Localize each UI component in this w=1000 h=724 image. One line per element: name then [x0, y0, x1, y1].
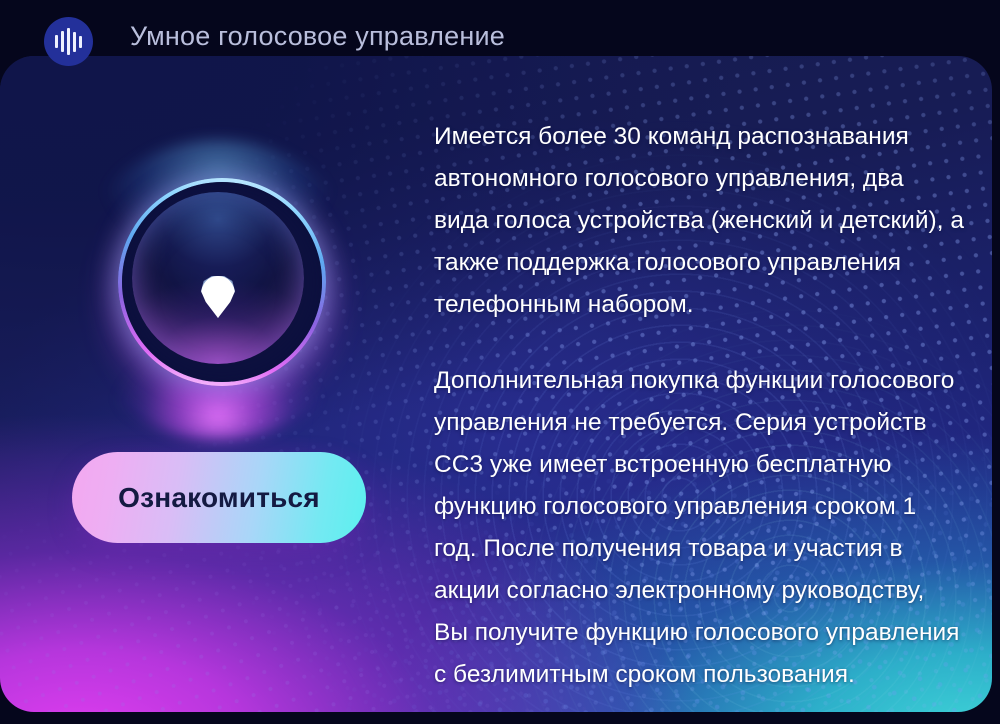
waveform-bar: [55, 35, 58, 48]
learn-more-button[interactable]: Ознакомиться: [72, 452, 366, 543]
orb-inner-sphere: [132, 192, 304, 364]
location-pin-icon: [201, 276, 235, 318]
description-paragraph-1: Имеется более 30 команд распознавания ав…: [434, 116, 964, 326]
glowing-voice-orb: [118, 178, 318, 378]
description-paragraph-2: Дополнительная покупка функции голосовог…: [434, 360, 964, 696]
waveform-bar: [67, 28, 70, 55]
voice-waveform-icon: [44, 17, 93, 66]
waveform-bar: [61, 31, 64, 52]
header: Умное голосовое управление: [0, 0, 1000, 80]
waveform-bar: [73, 32, 76, 52]
waveform-bar: [79, 36, 82, 48]
learn-more-button-label: Ознакомиться: [118, 482, 320, 514]
description-block: Имеется более 30 команд распознавания ав…: [434, 116, 964, 696]
page-title: Умное голосовое управление: [130, 21, 505, 52]
promo-slide: Умное голосовое управление Ознакомиться …: [0, 0, 1000, 724]
